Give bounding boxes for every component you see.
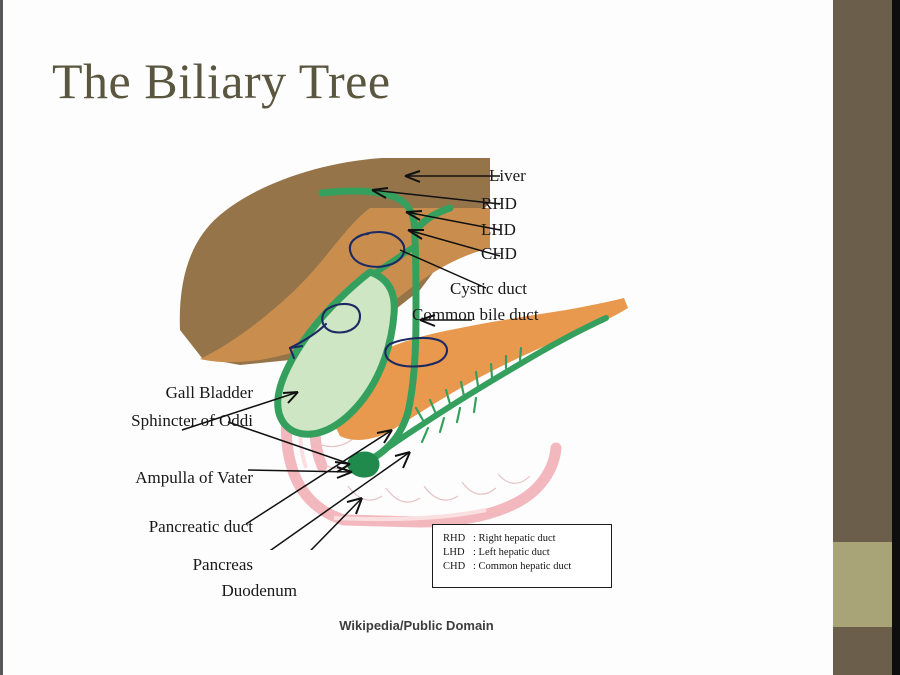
slide-canvas: The Biliary Tree [0,0,900,675]
abbreviation-legend: RHD: Right hepatic duct LHD: Left hepati… [432,524,612,588]
capture-right-edge [892,0,900,675]
label-sphincter-of-oddi: Sphincter of Oddi [0,411,253,431]
page-title: The Biliary Tree [52,55,391,108]
label-liver: Liver [489,166,526,186]
legend-sep: : [473,561,476,572]
label-common-bile-duct: Common bile duct [412,305,539,325]
label-ampulla-of-vater: Ampulla of Vater [0,468,253,488]
label-duodenum: Duodenum [0,581,297,601]
label-gall-bladder: Gall Bladder [0,383,253,403]
label-lhd: LHD [481,220,516,240]
legend-row: CHD: Common hepatic duct [443,560,611,574]
decorative-sidebar-accent [833,542,892,627]
legend-key-lhd: LHD [443,546,473,560]
label-pancreatic-duct: Pancreatic duct [0,517,253,537]
label-chd: CHD [481,244,517,264]
legend-sep: : [473,547,476,558]
source-caption: Wikipedia/Public Domain [0,618,833,633]
legend-text-lhd: Left hepatic duct [479,547,550,558]
legend-key-chd: CHD [443,560,473,574]
label-rhd: RHD [481,194,517,214]
label-pancreas: Pancreas [0,555,253,575]
legend-row: RHD: Right hepatic duct [443,532,611,546]
legend-sep: : [473,533,476,544]
leader-ampulla [248,470,352,472]
label-cystic-duct: Cystic duct [450,279,527,299]
leader-pancreas [254,452,410,550]
legend-key-rhd: RHD [443,532,473,546]
legend-text-rhd: Right hepatic duct [479,533,556,544]
legend-text-chd: Common hepatic duct [479,561,572,572]
legend-row: LHD: Left hepatic duct [443,546,611,560]
